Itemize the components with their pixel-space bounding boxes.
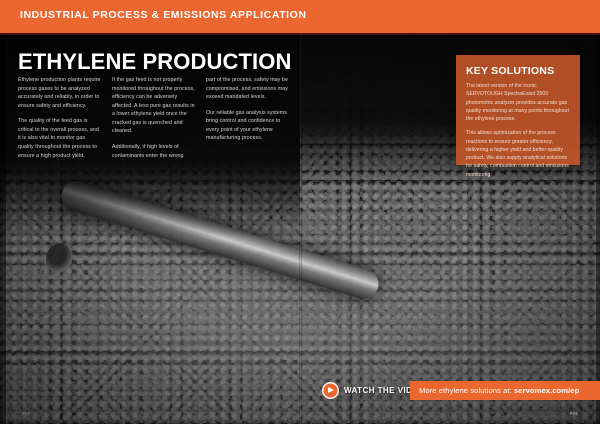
page-title: ETHYLENE PRODUCTION [18,49,291,75]
body-column-2: If the gas feed is not properly monitore… [112,76,196,160]
paragraph: If the gas feed is not properly monitore… [112,76,196,136]
play-icon-triangle [328,387,334,393]
more-solutions-text: More ethylene solutions at: servomex.com… [419,386,579,395]
right-page-edge [596,0,600,424]
paragraph: Additionally, if high levels of contamin… [112,143,196,160]
more-solutions-bar[interactable]: More ethylene solutions at: servomex.com… [410,381,600,400]
body-column-3: part of the process, safety may be compr… [206,76,290,160]
paragraph: The quality of the feed gas is critical … [18,117,102,160]
paragraph: Ethylene production plants require proce… [18,76,102,110]
page-number-left: P08 [22,411,30,416]
key-solutions-body: The latest version of the iconic SERVOTO… [466,82,572,179]
page-number-right: P09 [570,411,578,416]
more-solutions-prefix: More ethylene solutions at: [419,386,514,395]
page-gutter-seam [299,0,302,424]
key-solutions-title: KEY SOLUTIONS [466,65,554,77]
paragraph: Our reliable gas analysis systems bring … [206,109,290,143]
header-title: INDUSTRIAL PROCESS & EMISSIONS APPLICATI… [20,9,307,21]
body-column-1: Ethylene production plants require proce… [18,76,102,160]
paragraph: part of the process, safety may be compr… [206,76,290,102]
paragraph: This allows optimization of the process … [466,129,572,179]
body-columns: Ethylene production plants require proce… [18,76,290,160]
brochure-spread: INDUSTRIAL PROCESS & EMISSIONS APPLICATI… [0,0,600,424]
header-underline [0,33,600,35]
play-icon[interactable] [322,382,339,399]
key-solutions-panel: KEY SOLUTIONS The latest version of the … [456,55,580,165]
more-solutions-url[interactable]: servomex.com/ep [514,386,579,395]
paragraph: The latest version of the iconic SERVOTO… [466,82,572,123]
left-page-edge [0,0,6,424]
